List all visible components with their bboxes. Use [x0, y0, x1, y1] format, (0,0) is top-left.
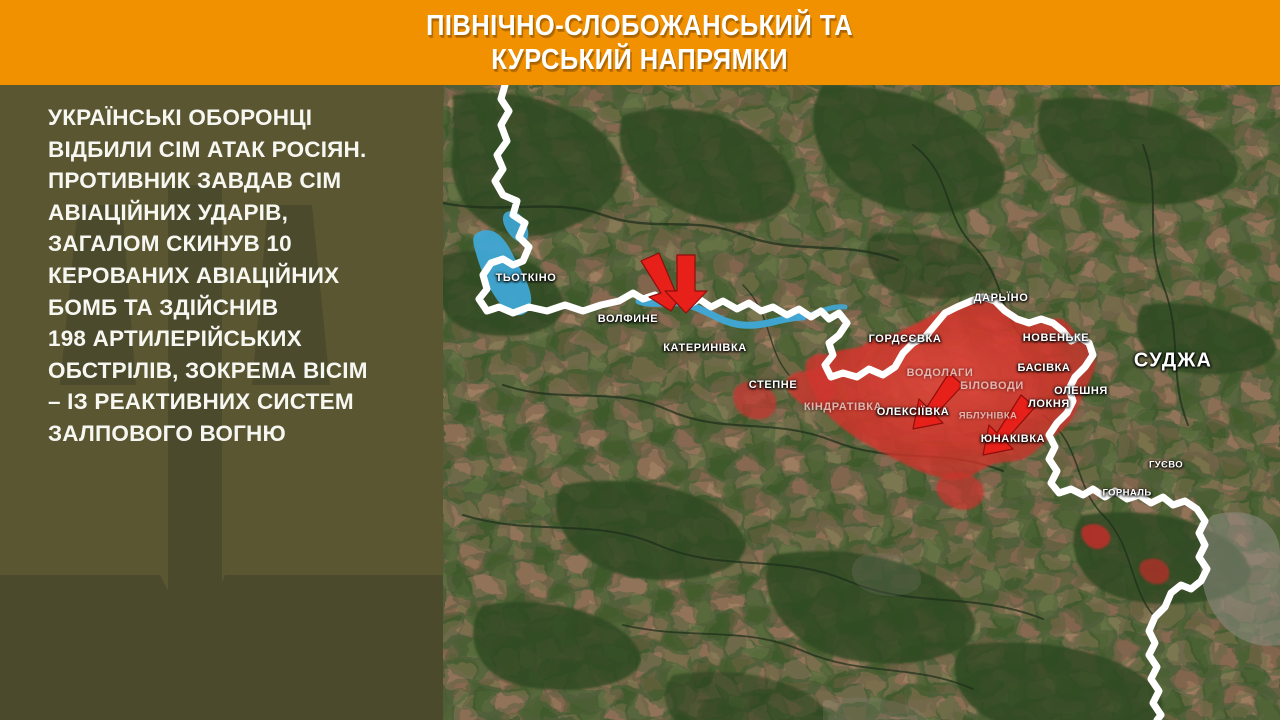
summary-line: УКРАЇНСЬКІ ОБОРОНЦІ: [48, 102, 427, 134]
summary-line: ОБСТРІЛІВ, ЗОКРЕМА ВІСІМ: [48, 355, 427, 387]
summary-text-panel: УКРАЇНСЬКІ ОБОРОНЦІ ВІДБИЛИ СІМ АТАК РОС…: [0, 85, 443, 720]
header-banner: ПІВНІЧНО-СЛОБОЖАНСЬКИЙ ТА КУРСЬКИЙ НАПРЯ…: [0, 0, 1280, 85]
summary-line: ЗАГАЛОМ СКИНУВ 10: [48, 228, 427, 260]
satellite-map[interactable]: ТЬОТКІНОВОЛФИНЕКАТЕРИНІВКАСТЕПНЕКІНДРАТІ…: [443, 85, 1280, 720]
page-title-line1: ПІВНІЧНО-СЛОБОЖАНСЬКИЙ ТА: [427, 9, 854, 43]
summary-line: БОМБ ТА ЗДІЙСНИВ: [48, 292, 427, 324]
summary-line: АВІАЦІЙНИХ УДАРІВ,: [48, 197, 427, 229]
infographic-root: ПІВНІЧНО-СЛОБОЖАНСЬКИЙ ТА КУРСЬКИЙ НАПРЯ…: [0, 0, 1280, 720]
summary-line: 198 АРТИЛЕРІЙСЬКИХ: [48, 323, 427, 355]
summary-line: – ІЗ РЕАКТИВНИХ СИСТЕМ: [48, 386, 427, 418]
map-canvas: [443, 85, 1280, 720]
page-title-line2: КУРСЬКИЙ НАПРЯМКИ: [492, 43, 789, 77]
summary-text: УКРАЇНСЬКІ ОБОРОНЦІ ВІДБИЛИ СІМ АТАК РОС…: [0, 85, 443, 450]
summary-line: КЕРОВАНИХ АВІАЦІЙНИХ: [48, 260, 427, 292]
summary-line: ПРОТИВНИК ЗАВДАВ СІМ: [48, 165, 427, 197]
summary-line: ВІДБИЛИ СІМ АТАК РОСІЯН.: [48, 134, 427, 166]
summary-line: ЗАЛПОВОГО ВОГНЮ: [48, 418, 427, 450]
